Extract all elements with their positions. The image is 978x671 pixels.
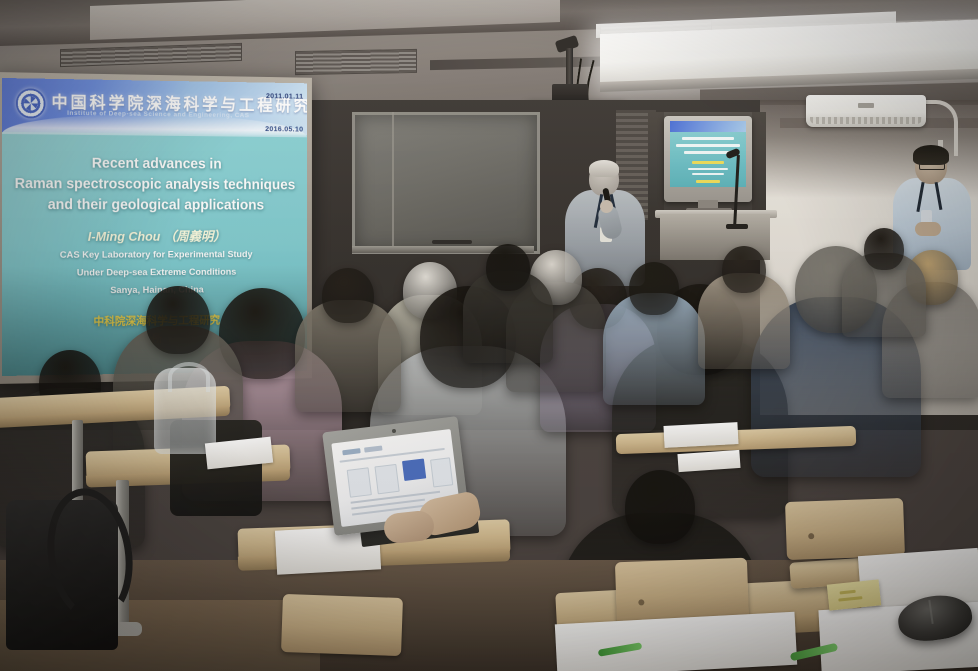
app-tab[interactable] <box>364 445 382 452</box>
chair-hole <box>808 533 814 539</box>
ac-vent-louvers <box>810 117 922 124</box>
monitor-slide-line <box>688 168 728 170</box>
chair-hole <box>638 599 644 605</box>
attendee-back-left-head <box>146 286 210 354</box>
document-thumbnail[interactable] <box>347 467 372 497</box>
plastic-bag-handle <box>168 362 210 392</box>
document-thumbnail-selected[interactable] <box>402 458 426 481</box>
monitor-slide-line <box>684 151 732 154</box>
ac-brand-logo <box>858 103 874 108</box>
eyeglasses-icon <box>919 163 945 170</box>
cabinet-panel <box>648 112 664 220</box>
document-thumbnail[interactable] <box>430 457 453 487</box>
slide-affiliation-line2: Under Deep-sea Extreme Conditions <box>2 267 307 279</box>
presenter-hand <box>600 200 613 213</box>
attendee-glasses-left-head <box>322 268 374 323</box>
microphone-base <box>726 224 748 229</box>
slide-date-bottom: 2016.05.10 <box>265 124 303 133</box>
standing-attendee-hair <box>913 145 949 165</box>
attendee-dark-back-row-head <box>486 244 530 291</box>
attendee-blue-shirt-mid-head <box>629 262 679 315</box>
cabinet-panel <box>752 112 766 220</box>
slide-title: Recent advances in Raman spectroscopic a… <box>2 153 307 216</box>
slide-affiliation-line1: CAS Key Laboratory for Experimental Stud… <box>2 249 307 261</box>
slide-title-line2: Raman spectroscopic analysis techniques <box>12 174 298 196</box>
document-thumbnail[interactable] <box>374 464 399 494</box>
monitor-slide-line <box>682 137 734 140</box>
sticky-note-mark <box>838 596 862 601</box>
slide-date-top: 2011.01.11 <box>266 91 303 100</box>
cas-emblem-core-icon <box>24 96 38 110</box>
app-tab[interactable] <box>342 448 360 455</box>
slide-title-line1: Recent advances in <box>12 153 298 176</box>
slide-author: I-Ming Chou （周義明） <box>2 226 307 245</box>
slide-title-line3: and their geological applications <box>12 195 298 216</box>
attendee-far-back-right-head <box>864 228 904 270</box>
whiteboard <box>352 112 540 254</box>
ceiling-air-vent <box>295 49 417 75</box>
printed-handouts <box>663 422 738 448</box>
monitor-slide-line <box>692 161 724 164</box>
monitor-slide-line <box>676 144 740 147</box>
whiteboard-divider <box>392 112 394 248</box>
lecture-hall-photo: 中国科学院深海科学与工程研究所 Institute of Deep-sea Sc… <box>0 0 978 671</box>
attendee-tan-shirt-head <box>722 246 766 293</box>
monitor-slide-line <box>696 180 720 183</box>
sticky-note <box>827 579 881 610</box>
wooden-chair-back <box>785 498 905 560</box>
presenter-hair <box>589 160 619 177</box>
standing-attendee-hands <box>915 222 941 236</box>
monitor-slide-header <box>670 121 746 132</box>
wooden-chair-back <box>281 594 403 656</box>
attendee-black-jacket-fg-head <box>625 470 695 544</box>
whiteboard-marker <box>432 240 472 244</box>
monitor-slide-line <box>692 173 724 175</box>
sticky-note-mark <box>840 590 856 595</box>
